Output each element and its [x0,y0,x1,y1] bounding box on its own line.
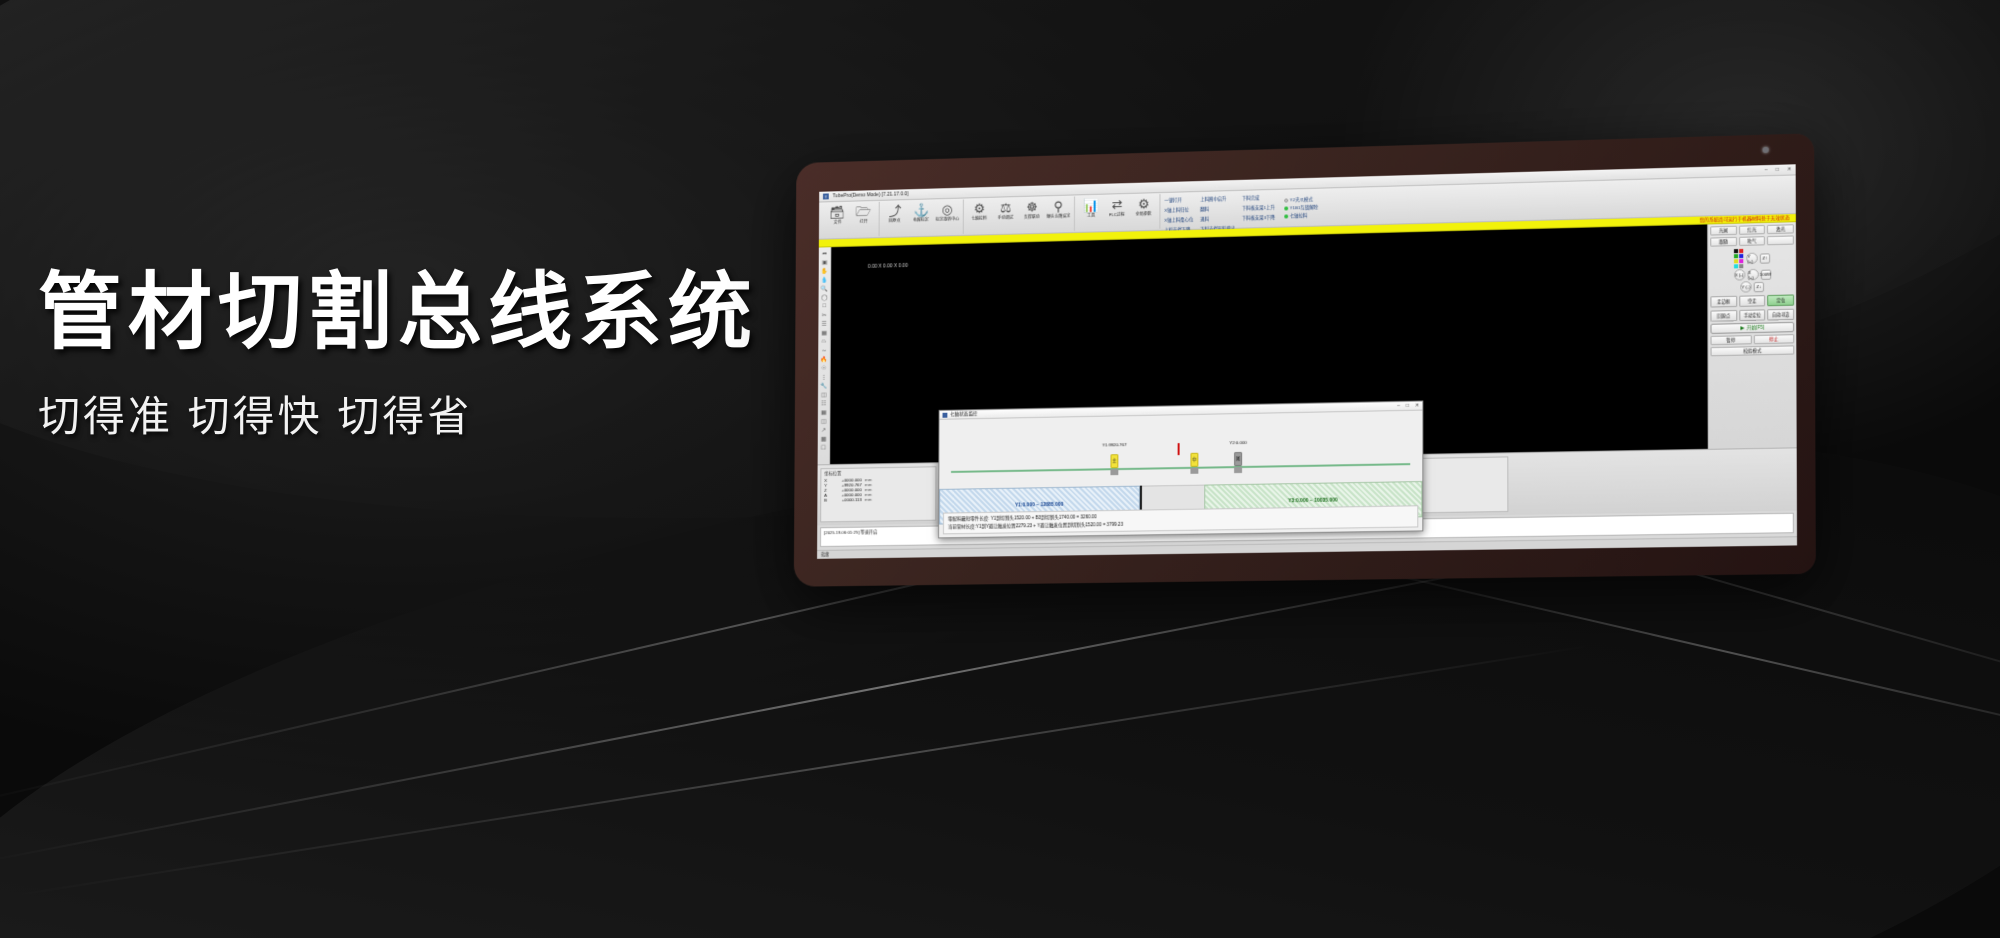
decor-line-3 [10,645,1591,897]
laser-power-readout: 100W [1760,269,1770,279]
seven-axis-feed-icon: ⚙ [974,202,985,215]
ribbon-group-tools: 📊 工具 ⇄ PLC过程 ⚙ 全局参数 [1075,194,1161,231]
color-swatch[interactable] [1739,249,1743,253]
layer-color-strip[interactable] [1734,249,1744,269]
status-label: Y2夹爪模式 [1290,196,1313,203]
jog-row-down: Y (-) Z↓ [1740,281,1764,293]
ribbon-label: 打开 [859,219,867,225]
capacitance-calibrate-icon: ⚓ [913,203,929,216]
shape-icon[interactable]: ⏢ [820,337,829,345]
folder-open-icon: 🗁 [855,205,871,218]
ribbon-button-open[interactable]: 🗁 打开 [851,202,876,225]
color-swatch[interactable] [1734,259,1738,263]
mode-frame-button[interactable]: 走边框 [1710,296,1736,308]
status-indicator-1[interactable]: Y1B1互锁解除 [1284,204,1318,211]
ribbon-group-file: 🗃 文件 🗁 打开 [822,202,880,238]
hero-banner: 管材切割总线系统 切得准 切得快 切得省 T TubePro(Demo Mode… [0,0,2000,938]
app-body: ➦ ▣ ✋ 💧 🔍 ◯ □ ✂ ☰ ▦ ⏢ ∼ 🔥 ☉ ⋮ [818,222,1797,464]
status-dot-icon [1284,214,1288,218]
axis-unit: mm [865,497,872,502]
right-control-panel[interactable]: 光闸 红光 激光 跟随 吹气 [1707,222,1797,449]
y3-range-label: Y3:0.000 ~ 10035.000 [1288,497,1338,504]
table-icon[interactable]: ◫ [819,390,828,398]
zoom-icon[interactable]: 🔍 [820,285,829,293]
axis-value: +0000.113 [833,497,862,502]
curve-icon[interactable]: ↗ [819,426,828,434]
rail-track [951,463,1410,472]
shutter-button[interactable]: 光闸 [1710,226,1736,236]
carriage-main-label: Y1:9920.767 [1102,442,1127,447]
status-col-coordinates: 坐标位置 X +0000.000 mm Y +9920.767 mm Z [820,466,936,522]
drawing-canvas[interactable]: 0.00 X 0.00 X 0.00 七轴状态监控 – □ ✕ [830,224,1708,464]
follow-button[interactable]: 跟随 [1710,237,1736,247]
close-icon[interactable]: ✕ [1787,166,1791,172]
dialog-body: Y1:9920.767 主 中 Y2:0.00 [939,411,1422,538]
grid-icon[interactable]: ▦ [820,329,829,337]
cut-icon[interactable]: ✂ [820,311,829,319]
check-mode-row: 校验模式 [1711,345,1795,356]
laser-button[interactable]: 激光 [1767,224,1794,234]
ribbon-button-seven-axis-feed[interactable]: ⚙ 七轴拉料 [967,199,992,222]
compass-icon[interactable]: ☉ [820,364,829,372]
ribbon-button-rotation-center[interactable]: ◎ 标定旋转中心 [935,200,960,223]
ribbon-label: 手动调试 [998,215,1014,221]
global-params-icon: ⚙ [1138,197,1150,210]
color-swatch[interactable] [1739,264,1743,268]
array-icon[interactable]: ☷ [819,399,828,407]
bracket-icon[interactable]: ▩ [819,435,828,443]
jog-z-up-button[interactable]: Z↑ [1760,253,1770,263]
layer-icon[interactable]: ☰ [820,320,829,328]
pan-hand-icon[interactable]: ✋ [820,267,829,275]
ribbon-label: 七轴拉料 [971,216,987,222]
ribbon-cmd-4[interactable]: 翻料 [1200,206,1235,213]
jog-pad[interactable]: Y (+) Z↑ X (-) X (+) 100W Y (-) Z↓ [1710,248,1794,294]
mode-home-button[interactable]: 回原点 [1710,310,1736,322]
ribbon-button-plc[interactable]: ⇄ PLC过程 [1104,195,1130,218]
jog-y-plus-button[interactable]: Y (+) [1746,253,1757,264]
mode-manual-locate-button[interactable]: 手动定位 [1739,309,1766,321]
stop-button[interactable]: 停止 [1753,334,1794,344]
decor-line-2 [0,538,1645,864]
color-swatch[interactable] [1739,259,1743,263]
ribbon-status-indicators: Y2夹爪模式 Y1B1互锁解除 七轴拉料 [1279,190,1318,226]
status-label: 七轴拉料 [1290,212,1308,218]
color-swatch[interactable] [1734,249,1738,253]
start-button[interactable]: 开始[F5] [1710,322,1794,334]
color-swatch[interactable] [1734,264,1738,268]
dialog-title: 七轴状态监控 [950,411,977,417]
support-link-icon: ☸ [1026,200,1037,213]
flame-icon[interactable]: 🔥 [820,355,829,363]
mode-row-2: 回原点 手动定位 自动寻边 [1710,309,1794,322]
rect-icon[interactable]: □ [820,302,829,310]
dialog-window-controls[interactable]: – □ ✕ [1397,403,1419,409]
plc-process-icon: ⇄ [1112,198,1123,211]
ribbon-cmd-3[interactable]: X轴上料归位 [1164,207,1193,214]
mode-auto-edge-button[interactable]: 自动寻边 [1768,309,1795,321]
ribbon-label: 全局参数 [1136,211,1152,217]
cut-head-marker-icon [1178,443,1180,455]
carriage-tail-label: Y2:0.000 [1229,440,1246,445]
jog-row-mid: X (-) X (+) 100W [1734,269,1771,281]
ribbon-label: 回原点 [889,218,901,224]
ribbon-cmd-1[interactable]: 上料圈中启升 [1200,196,1235,203]
jog-y-minus-button[interactable]: Y (-) [1740,281,1751,292]
ribbon-group-calibrate: ⤴ 回原点 ⚓ 电容标定 ◎ 标定旋转中心 [880,199,964,236]
measure-icon[interactable]: ◫ [819,417,828,425]
carriage-tail[interactable]: Y2:0.000 尾 [1234,452,1242,473]
dialog-minimize-icon[interactable]: – [1397,403,1400,409]
ribbon-label: 支撑联动 [1024,214,1040,220]
app-icon: T [823,193,829,199]
control-row-2: 跟随 吹气 [1710,235,1794,246]
status-indicator-0[interactable]: Y2夹爪模式 [1284,196,1318,203]
hero-title: 管材切割总线系统 [38,268,878,357]
carriage-main[interactable]: Y1:9920.767 主 [1110,454,1118,475]
camera-icon [1763,147,1769,153]
matrix-icon[interactable]: ▦ [819,408,828,416]
ribbon-cmd-2[interactable]: 下料完成 [1242,195,1275,202]
axis-label: B [824,498,830,503]
seven-axis-monitor-dialog[interactable]: 七轴状态监控 – □ ✕ Y1:9920.767 [938,401,1423,539]
ribbon-label: 标定旋转中心 [936,217,960,223]
status-indicator-2[interactable]: 七轴拉料 [1284,212,1318,219]
manual-debug-icon: ⚖ [1000,201,1011,214]
minimize-icon[interactable]: – [1765,167,1768,173]
blow-air-button[interactable]: 吹气 [1739,236,1766,246]
dialog-close-icon[interactable]: ✕ [1415,403,1419,409]
ribbon-label: 文件 [833,220,841,226]
ribbon-group-axis: ⚙ 七轴拉料 ⚖ 手动调试 ☸ 支撑联动 ⚲ 爆 [964,196,1075,234]
ribbon-button-home[interactable]: ⤴ 回原点 [882,201,907,224]
y1-range-label: Y1:0.000 ~ 12885.000 [1015,502,1064,509]
ribbon-label: PLC过程 [1109,212,1125,218]
wrench-icon[interactable]: 🔧 [819,382,828,390]
mode-row-1: 走边框 空走 定位 [1710,294,1794,307]
status-label: Y1B1互锁解除 [1290,204,1318,211]
ribbon-button-manual-debug[interactable]: ⚖ 手动调试 [993,198,1018,221]
ribbon-cmd-5[interactable]: 下料板支架1上升 [1242,205,1275,212]
run-control-row: 暂停 停止 [1711,334,1795,345]
headline-block: 管材切割总线系统 切得准 切得快 切得省 [38,268,878,444]
select-arrow-icon[interactable]: ➦ [820,249,829,257]
rotation-center-icon: ◎ [942,203,953,216]
color-swatch[interactable] [1734,254,1738,258]
maximize-icon[interactable]: □ [1776,167,1779,173]
left-toolbar[interactable]: ➦ ▣ ✋ 💧 🔍 ◯ □ ✂ ☰ ▦ ⏢ ∼ 🔥 ☉ ⋮ [818,247,832,464]
spare-button[interactable] [1767,235,1794,245]
ribbon-label: 工具 [1087,213,1095,219]
carriage-middle-head: 中 [1190,453,1198,467]
carriage-main-head: 主 [1110,454,1118,468]
canvas-dimensions: 0.00 X 0.00 X 0.00 [868,263,908,270]
status-dot-icon [1284,198,1288,202]
ribbon-cmd-8[interactable]: 下料板支架3下降 [1242,215,1275,222]
carriage-middle[interactable]: 中 [1190,453,1198,474]
jog-x-plus-button[interactable]: X (+) [1747,269,1758,280]
file-icon: 🗃 [829,206,845,219]
check-mode-checkbox[interactable]: 校验模式 [1711,345,1795,356]
node-edit-icon[interactable]: ▣ [820,258,829,266]
carriage-middle-foot [1190,468,1198,474]
window-title: TubePro(Demo Mode) [7.21.17.0.0] [833,191,909,199]
status-dot-icon [1284,206,1288,210]
dialog-maximize-icon[interactable]: □ [1406,403,1409,409]
play-icon [1740,326,1744,330]
ribbon-button-head-follow[interactable]: ⚲ 爆头认随设定 [1046,197,1072,220]
ribbon-button-tools[interactable]: 📊 工具 [1078,196,1104,219]
status-row: B +0000.113 mm [824,496,932,503]
red-light-button[interactable]: 红光 [1739,225,1766,235]
pause-button[interactable]: 暂停 [1711,335,1752,345]
carriage-tail-foot [1234,467,1242,473]
ribbon-text-commands[interactable]: 一键打开 上料圈中启升 下料完成 X轴上料归位 翻料 下料板支架1上升 X轴上料… [1160,191,1279,229]
control-row-1: 光闸 红光 激光 [1710,224,1794,235]
jog-row-up: Y (+) Z↑ [1734,248,1770,268]
dots-icon[interactable]: ⋮ [820,373,829,381]
ribbon-button-support-link[interactable]: ☸ 支撑联动 [1019,197,1044,220]
dialog-app-icon [943,412,948,417]
bridge-icon[interactable]: ∼ [820,346,829,354]
home-axis-icon: ⤴ [889,204,902,217]
tubepro-application: T TubePro(Demo Mode) [7.21.17.0.0] – □ ✕… [817,164,1797,559]
carriage-main-foot [1110,469,1118,475]
ribbon-cmd-0[interactable]: 一键打开 [1164,197,1193,204]
ribbon-cmd-6[interactable]: X轴上料柔心位 [1164,217,1193,224]
jog-x-minus-button[interactable]: X (-) [1734,269,1745,280]
carriage-tail-head: 尾 [1234,452,1242,466]
mode-locate-button[interactable]: 定位 [1768,294,1795,306]
tablet-screen: T TubePro(Demo Mode) [7.21.17.0.0] – □ ✕… [817,164,1797,559]
ribbon-button-file[interactable]: 🗃 文件 [825,203,850,226]
circle-icon[interactable]: ◯ [820,293,829,301]
ribbon-cmd-7[interactable]: 退料 [1200,216,1235,223]
window-controls[interactable]: – □ ✕ [1765,166,1792,173]
tablet-device: T TubePro(Demo Mode) [7.21.17.0.0] – □ ✕… [794,133,1816,586]
page-icon[interactable]: ☐ [819,444,828,452]
drop-icon[interactable]: 💧 [820,276,829,284]
head-follow-icon: ⚲ [1054,200,1063,213]
color-swatch[interactable] [1739,254,1743,258]
tools-icon: 📊 [1083,199,1099,212]
jog-z-down-button[interactable]: Z↓ [1754,281,1764,291]
start-button-label: 开始[F5] [1747,325,1765,331]
ribbon-button-capacitance[interactable]: ⚓ 电容标定 [909,200,934,223]
mode-dryrun-button[interactable]: 空走 [1739,295,1766,307]
ribbon-button-global-params[interactable]: ⚙ 全局参数 [1131,194,1157,217]
hero-subtitle: 切得准 切得快 切得省 [38,383,878,444]
ribbon-label: 电容标定 [913,217,929,223]
ribbon-label: 爆头认随设定 [1046,214,1070,220]
